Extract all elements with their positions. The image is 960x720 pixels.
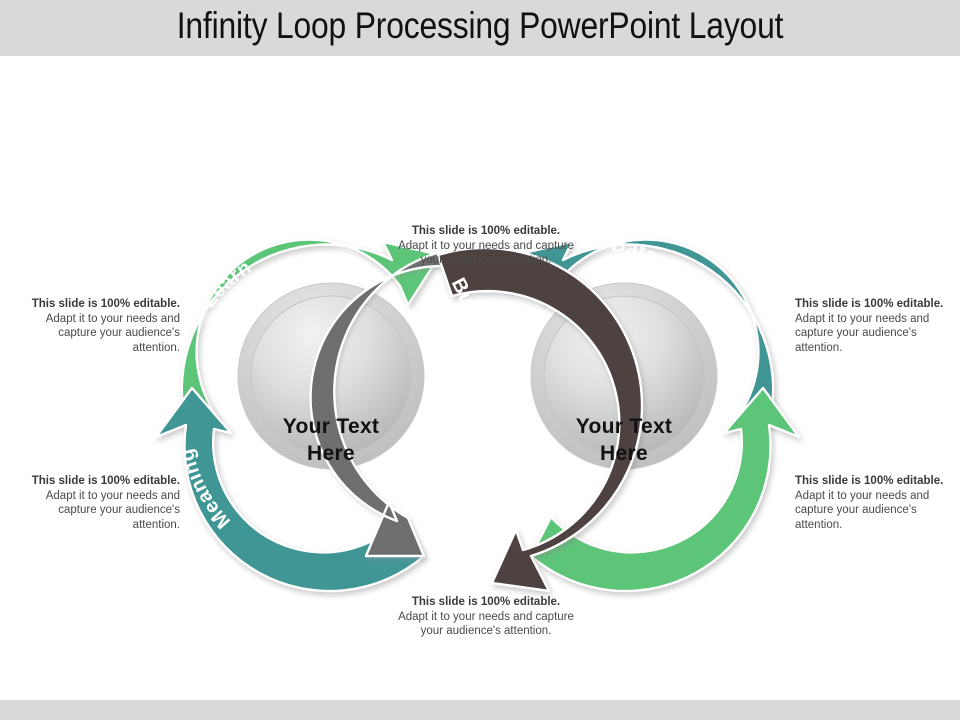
right-center-line2: Here xyxy=(529,440,719,467)
right-center-line1: Your Text xyxy=(529,413,719,440)
callout-left-top-bold: This slide is 100% editable. xyxy=(32,298,180,310)
left-center-line2: Here xyxy=(236,440,426,467)
callout-top-bold: This slide is 100% editable. xyxy=(412,225,560,237)
page-title: Infinity Loop Processing PowerPoint Layo… xyxy=(67,0,893,56)
slide-canvas: Infinity Loop Processing PowerPoint Layo… xyxy=(0,0,960,720)
callout-top: This slide is 100% editable. Adapt it to… xyxy=(398,224,574,268)
slide-body: Learn Meaning Build Behaviour Data Impac… xyxy=(0,56,960,700)
left-center-line1: Your Text xyxy=(236,413,426,440)
left-center-label: Your Text Here xyxy=(236,413,426,467)
right-center-label: Your Text Here xyxy=(529,413,719,467)
callout-left-bottom-rest: Adapt it to your needs and capture your … xyxy=(46,490,180,531)
callout-right-top-rest: Adapt it to your needs and capture your … xyxy=(795,313,929,354)
callout-left-bottom: This slide is 100% editable. Adapt it to… xyxy=(30,474,180,532)
callout-left-top-rest: Adapt it to your needs and capture your … xyxy=(46,313,180,354)
callout-bottom: This slide is 100% editable. Adapt it to… xyxy=(398,595,574,639)
callout-top-rest: Adapt it to your needs and capture your … xyxy=(398,240,574,267)
callout-right-top: This slide is 100% editable. Adapt it to… xyxy=(795,297,947,355)
callout-right-bottom-bold: This slide is 100% editable. xyxy=(795,475,943,487)
callout-bottom-bold: This slide is 100% editable. xyxy=(412,596,560,608)
callout-right-top-bold: This slide is 100% editable. xyxy=(795,298,943,310)
callout-left-top: This slide is 100% editable. Adapt it to… xyxy=(30,297,180,355)
callout-left-bottom-bold: This slide is 100% editable. xyxy=(32,475,180,487)
callout-right-bottom: This slide is 100% editable. Adapt it to… xyxy=(795,474,947,532)
footer-band xyxy=(0,700,960,720)
callout-right-bottom-rest: Adapt it to your needs and capture your … xyxy=(795,490,929,531)
callout-bottom-rest: Adapt it to your needs and capture your … xyxy=(398,611,574,638)
